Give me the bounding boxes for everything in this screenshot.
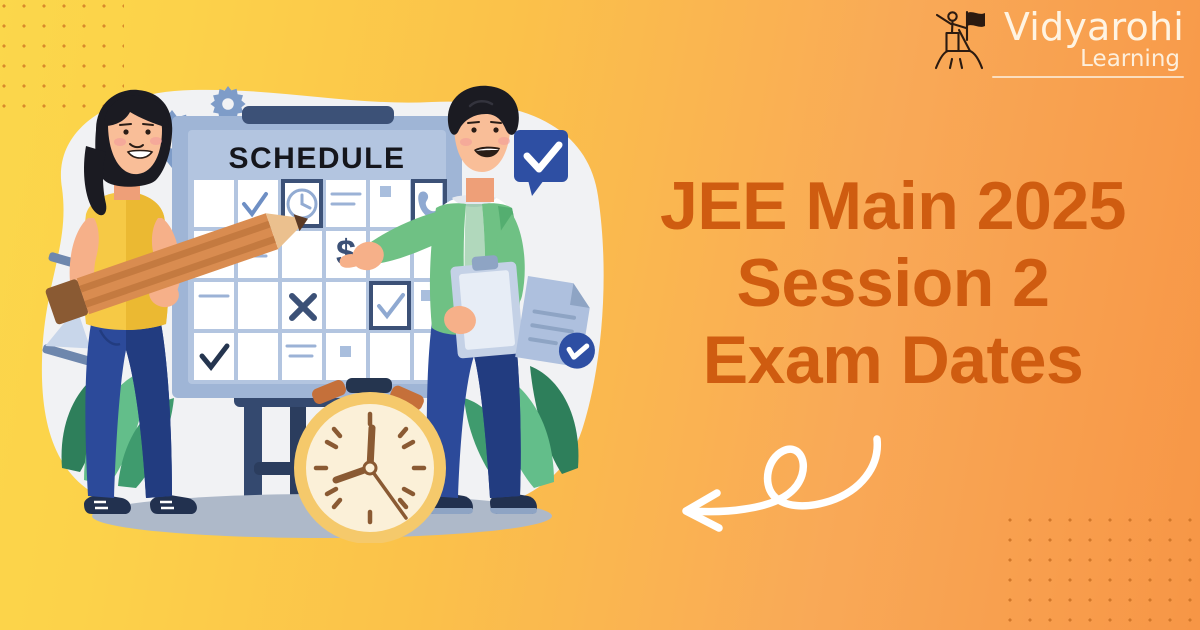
headline-line-1: JEE Main 2025 [600,168,1186,245]
page-title: JEE Main 2025 Session 2 Exam Dates [600,168,1186,398]
schedule-illustration: SCHEDULE [22,68,630,543]
square-dot-icon [340,346,351,357]
square-dot-icon [380,186,391,197]
mountain-climber-flag-icon [926,6,988,74]
brand-name: Vidyarohi [1004,8,1184,46]
brand-logo[interactable]: Vidyarohi Learning [926,4,1184,78]
brand-tagline: Learning [1080,48,1180,71]
brand-underline [992,76,1184,78]
alarm-clock-icon [294,378,446,543]
dot-pattern-bottom-right [1000,510,1200,630]
decorative-arrow [655,425,905,550]
board-title-text: SCHEDULE [228,142,405,175]
headline-line-3: Exam Dates [600,322,1186,399]
curved-looping-arrow-left-icon [655,425,905,545]
headline-line-2: Session 2 [600,245,1186,322]
